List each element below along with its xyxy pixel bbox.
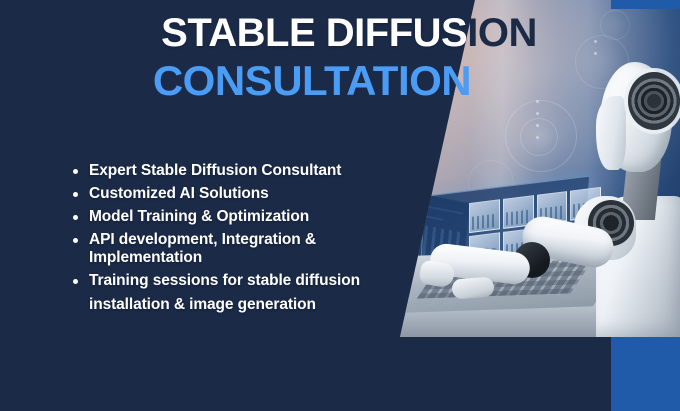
feature-text: Expert Stable Diffusion Consultant	[89, 162, 341, 179]
list-item: Expert Stable Diffusion Consultant	[68, 162, 428, 180]
list-item: Training sessions for stable diffusionin…	[68, 272, 428, 314]
bokeh-dot	[594, 40, 597, 43]
feature-text: Customized AI Solutions	[89, 185, 269, 202]
robot-ear-mechanism	[628, 72, 680, 130]
list-item: Model Training & Optimization	[68, 208, 428, 226]
bokeh-circle	[600, 10, 630, 40]
service-banner: STABLE DIFFUSION CONSULTATION Expert Sta…	[0, 0, 680, 411]
bokeh-dot	[594, 52, 597, 55]
feature-text: Training sessions for stable diffusion	[89, 272, 360, 289]
feature-text: API development, Integration &	[89, 231, 316, 248]
bokeh-dot	[536, 124, 539, 127]
robot-hand	[451, 277, 494, 300]
feature-list: Expert Stable Diffusion Consultant Custo…	[68, 162, 428, 319]
feature-text-line2: Implementation	[89, 249, 428, 267]
list-item: API development, Integration &Implementa…	[68, 231, 428, 267]
feature-text: Model Training & Optimization	[89, 208, 309, 225]
top-accent-strip	[611, 0, 680, 9]
bokeh-dot	[536, 100, 539, 103]
bottom-right-accent-block	[611, 337, 680, 411]
feature-text-line2: installation & image generation	[89, 296, 428, 314]
bokeh-dot	[536, 112, 539, 115]
bokeh-circle	[520, 118, 558, 156]
bokeh-dot	[536, 136, 539, 139]
holo-panel	[469, 199, 500, 232]
list-item: Customized AI Solutions	[68, 185, 428, 203]
title-line-1-main: STABLE DIFFUS	[161, 11, 467, 55]
robot-face	[596, 96, 626, 170]
